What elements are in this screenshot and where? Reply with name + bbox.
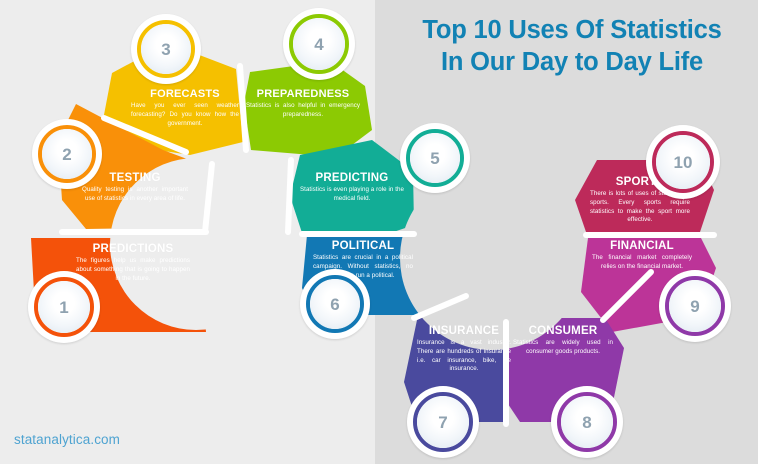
badge-number-1: 1 xyxy=(59,299,68,316)
badge-7[interactable]: 7 xyxy=(407,386,479,458)
badge-1[interactable]: 1 xyxy=(28,271,100,343)
badge-number-10: 10 xyxy=(674,154,693,171)
badge-6[interactable]: 6 xyxy=(300,269,370,339)
badge-number-8: 8 xyxy=(582,414,591,431)
badge-number-2: 2 xyxy=(62,146,71,163)
segment-shape-predicting[interactable] xyxy=(290,140,414,238)
badge-5[interactable]: 5 xyxy=(400,123,470,193)
badge-9[interactable]: 9 xyxy=(659,270,731,342)
page-title: Top 10 Uses Of Statistics In Our Day to … xyxy=(392,14,752,78)
infographic-canvas: Top 10 Uses Of Statistics In Our Day to … xyxy=(0,0,758,464)
title-line-1: Top 10 Uses Of Statistics xyxy=(422,16,721,44)
footer-site-url[interactable]: statanalytica.com xyxy=(14,432,120,447)
badge-4[interactable]: 4 xyxy=(283,8,355,80)
badge-number-6: 6 xyxy=(330,296,339,313)
badge-number-4: 4 xyxy=(314,36,323,53)
title-line-2: In Our Day to Day Life xyxy=(392,46,752,78)
left-hub-hole xyxy=(110,158,282,330)
badge-2[interactable]: 2 xyxy=(32,119,102,189)
badge-number-7: 7 xyxy=(438,414,447,431)
badge-10[interactable]: 10 xyxy=(646,125,720,199)
badge-8[interactable]: 8 xyxy=(551,386,623,458)
badge-3[interactable]: 3 xyxy=(131,14,201,84)
badge-number-9: 9 xyxy=(690,298,699,315)
badge-number-5: 5 xyxy=(430,150,439,167)
right-hub-hole xyxy=(400,166,584,350)
badge-number-3: 3 xyxy=(161,41,170,58)
